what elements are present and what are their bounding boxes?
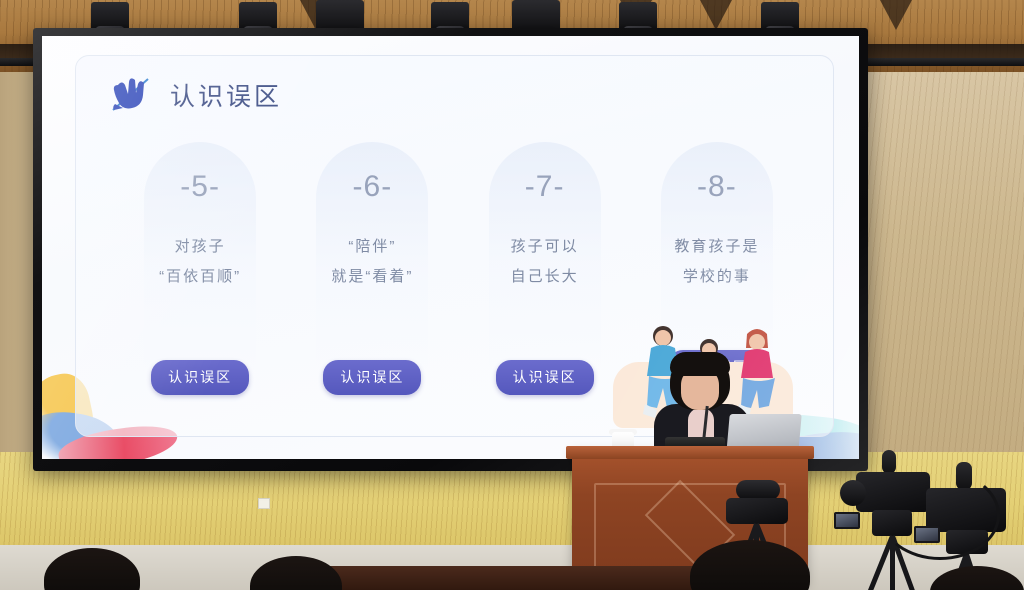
column-pill-button[interactable]: 认识误区: [496, 360, 594, 395]
ceiling-panel-icon: [700, 0, 732, 30]
slide-title: 认识误区: [170, 77, 282, 113]
column-line-1: 教育孩子是: [674, 232, 759, 262]
column-number: -5-: [180, 170, 220, 204]
column-text: “陪伴” 就是“看着”: [331, 232, 413, 292]
lecture-hall-scene: 认识误区 -5- 对孩子 “百依百顺” 认识误区 -6-: [0, 0, 1024, 590]
ceiling-panel-icon: [880, 0, 912, 30]
audience-bench: [285, 566, 705, 590]
column-line-2: 就是“看着”: [331, 262, 413, 292]
column-line-1: 孩子可以: [511, 232, 579, 262]
column-number: -6-: [353, 170, 393, 204]
slide-header: 认识误区: [108, 76, 282, 114]
column-line-2: “百依百顺”: [159, 262, 241, 292]
column-number: -8-: [697, 170, 737, 204]
blue-hand-brush-logo-icon: [108, 76, 152, 114]
column-pill-button[interactable]: 认识误区: [323, 360, 421, 395]
column-pill-button[interactable]: 认识误区: [151, 360, 249, 395]
camera-cable: [880, 470, 1000, 560]
column-line-2: 学校的事: [674, 262, 759, 292]
column-text: 孩子可以 自己长大: [511, 232, 579, 292]
column-line-1: “陪伴”: [331, 232, 413, 262]
column-number: -7-: [525, 170, 565, 204]
presenter-fringe: [670, 352, 730, 376]
column-line-1: 对孩子: [159, 232, 241, 262]
column-line-2: 自己长大: [511, 262, 579, 292]
column-text: 对孩子 “百依百顺”: [159, 232, 241, 292]
misconception-column-5[interactable]: -5- 对孩子 “百依百顺” 认识误区: [114, 148, 286, 438]
wall-socket: [258, 498, 270, 509]
column-text: 教育孩子是 学校的事: [674, 232, 759, 292]
misconception-column-6[interactable]: -6- “陪伴” 就是“看着” 认识误区: [286, 148, 458, 438]
lectern-top: [566, 446, 814, 459]
